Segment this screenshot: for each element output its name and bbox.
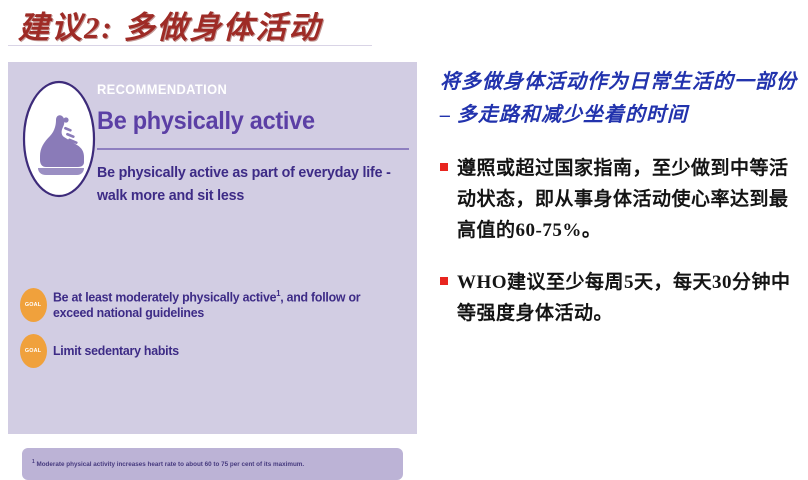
recommendation-divider <box>97 148 409 150</box>
list-item: WHO建议至少每周5天，每天30分钟中等强度身体活动。 <box>440 268 798 330</box>
bullet-text: WHO建议至少每周5天，每天30分钟中等强度身体活动。 <box>457 268 798 330</box>
right-column: 将多做身体活动作为日常生活的一部份 – 多走路和减少坐着的时间 遵照或超过国家指… <box>440 66 798 352</box>
page-title: 建议2: 多做身体活动 <box>18 2 322 47</box>
chinese-heading: 将多做身体活动作为日常生活的一部份 – 多走路和减少坐着的时间 <box>440 66 798 132</box>
bullet-text: 遵照或超过国家指南，至少做到中等活动状态，即从事身体活动使心率达到最高值的60-… <box>457 154 798 246</box>
goal-text: Be at least moderately physically active… <box>53 289 391 322</box>
chinese-bullet-list: 遵照或超过国家指南，至少做到中等活动状态，即从事身体活动使心率达到最高值的60-… <box>440 154 798 330</box>
recommendation-card: RECOMMENDATION Be physically active Be p… <box>8 62 417 434</box>
bullet-square-icon <box>440 163 448 171</box>
goal-badge-icon: GOAL <box>20 288 47 322</box>
goal-badge-label: GOAL <box>25 348 41 353</box>
goal-badge-label: GOAL <box>25 302 41 307</box>
footnote-body: Moderate physical activity increases hea… <box>36 461 304 468</box>
list-item: GOAL Be at least moderately physically a… <box>20 288 409 322</box>
footnote-marker: 1 <box>32 459 35 465</box>
goal-text-main: Limit sedentary habits <box>53 343 179 358</box>
list-item: GOAL Limit sedentary habits <box>20 334 409 368</box>
recommendation-subtext: Be physically active as part of everyday… <box>97 162 401 207</box>
recommendation-heading: Be physically active <box>97 107 388 136</box>
goal-list: GOAL Be at least moderately physically a… <box>20 288 409 380</box>
bullet-square-icon <box>440 277 448 285</box>
running-shoe-icon <box>20 78 98 200</box>
goal-text-main: Be at least moderately physically active <box>53 289 276 304</box>
footnote-text: 1 Moderate physical activity increases h… <box>32 459 304 469</box>
recommendation-body: RECOMMENDATION Be physically active Be p… <box>97 82 407 207</box>
goal-text: Limit sedentary habits <box>53 343 179 359</box>
goal-badge-icon: GOAL <box>20 334 47 368</box>
recommendation-kicker: RECOMMENDATION <box>97 82 382 97</box>
title-divider <box>8 45 372 46</box>
footnote-box: 1 Moderate physical activity increases h… <box>22 448 403 480</box>
list-item: 遵照或超过国家指南，至少做到中等活动状态，即从事身体活动使心率达到最高值的60-… <box>440 154 798 246</box>
